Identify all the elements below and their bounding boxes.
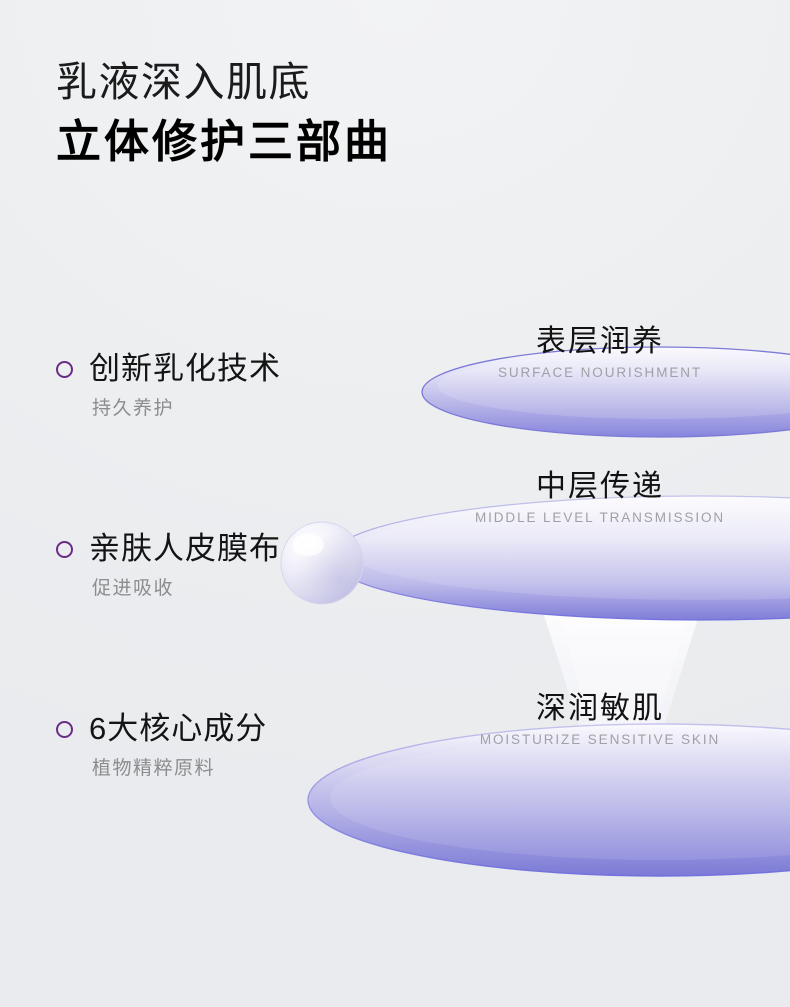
page-header: 乳液深入肌底 立体修护三部曲 bbox=[56, 58, 696, 171]
feature-heading-3: 6大核心成分 bbox=[56, 712, 386, 746]
feature-subtitle-3: 植物精粹原料 bbox=[92, 758, 386, 781]
layer-label-surface-cn: 表层润养 bbox=[435, 325, 765, 360]
layer-label-deep: 深润敏肌 MOISTURIZE SENSITIVE SKIN bbox=[435, 692, 765, 747]
layer-label-deep-cn: 深润敏肌 bbox=[435, 692, 765, 727]
feature-subtitle-2: 促进吸收 bbox=[92, 578, 386, 601]
feature-item-1: 创新乳化技术 持久养护 bbox=[56, 352, 386, 421]
feature-title-1: 创新乳化技术 bbox=[89, 352, 281, 386]
layer-label-middle-cn: 中层传递 bbox=[435, 470, 765, 505]
header-subtitle-line: 乳液深入肌底 bbox=[56, 58, 696, 106]
ring-bullet-icon bbox=[56, 721, 73, 738]
layer-label-middle-en: MIDDLE LEVEL TRANSMISSION bbox=[435, 510, 765, 526]
feature-title-2: 亲肤人皮膜布 bbox=[89, 532, 281, 566]
feature-heading-2: 亲肤人皮膜布 bbox=[56, 532, 386, 566]
ring-bullet-icon bbox=[56, 541, 73, 558]
feature-heading-1: 创新乳化技术 bbox=[56, 352, 386, 386]
feature-item-3: 6大核心成分 植物精粹原料 bbox=[56, 712, 386, 781]
feature-item-2: 亲肤人皮膜布 促进吸收 bbox=[56, 532, 386, 601]
layer-label-surface-en: SURFACE NOURISHMENT bbox=[435, 365, 765, 381]
page-title: 立体修护三部曲 bbox=[56, 114, 696, 170]
layer-label-middle: 中层传递 MIDDLE LEVEL TRANSMISSION bbox=[435, 470, 765, 525]
feature-subtitle-1: 持久养护 bbox=[92, 398, 386, 421]
feature-title-3: 6大核心成分 bbox=[89, 712, 267, 746]
layer-label-surface: 表层润养 SURFACE NOURISHMENT bbox=[435, 325, 765, 380]
layer-label-deep-en: MOISTURIZE SENSITIVE SKIN bbox=[435, 732, 765, 748]
ring-bullet-icon bbox=[56, 361, 73, 378]
